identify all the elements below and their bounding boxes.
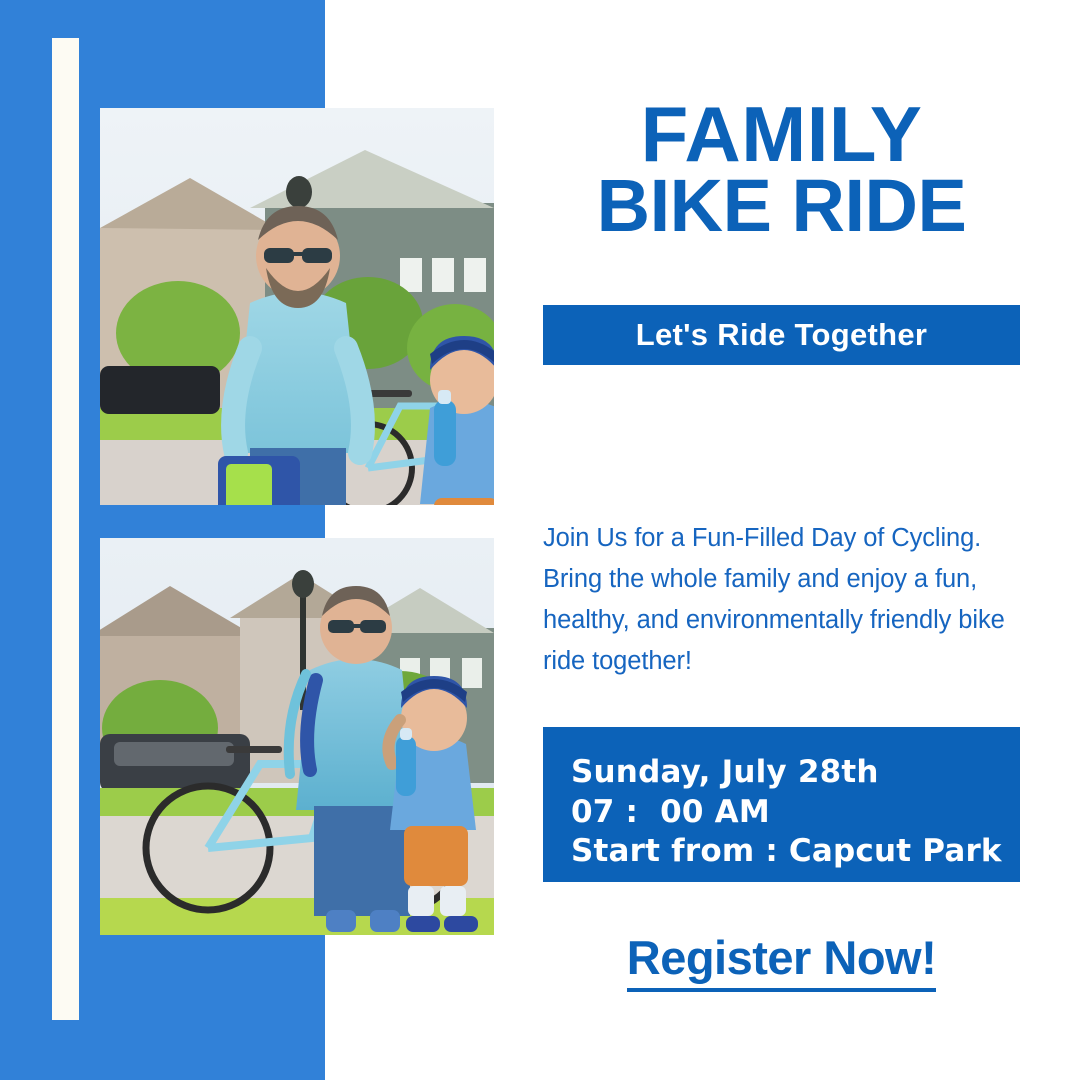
subtitle-text: Let's Ride Together (636, 317, 928, 353)
cream-vertical-stripe (52, 38, 79, 1020)
event-date: Sunday, July 28th (571, 753, 1020, 793)
photo-bottom-illustration (100, 538, 494, 935)
content-column: FAMILY BIKE RIDE Let's Ride Together Joi… (543, 0, 1020, 1080)
description-text: Join Us for a Fun-Filled Day of Cycling.… (543, 518, 1013, 683)
title-line-1: FAMILY (543, 98, 1020, 171)
subtitle-banner: Let's Ride Together (543, 305, 1020, 365)
photo-father-and-child-with-bike (100, 108, 494, 505)
register-now-link[interactable]: Register Now! (627, 930, 937, 992)
photo-top-illustration (100, 108, 494, 505)
poster: FAMILY BIKE RIDE Let's Ride Together Joi… (0, 0, 1080, 1080)
cta-container: Register Now! (543, 930, 1020, 992)
event-details-box: Sunday, July 28th 07 : 00 AM Start from … (543, 727, 1020, 882)
event-time: 07 : 00 AM (571, 793, 1020, 833)
page-title: FAMILY BIKE RIDE (543, 98, 1020, 241)
photo-father-and-child-hugging-by-bike (100, 538, 494, 935)
event-location: Start from : Capcut Park (571, 832, 1020, 872)
title-line-2: BIKE RIDE (543, 171, 1020, 241)
